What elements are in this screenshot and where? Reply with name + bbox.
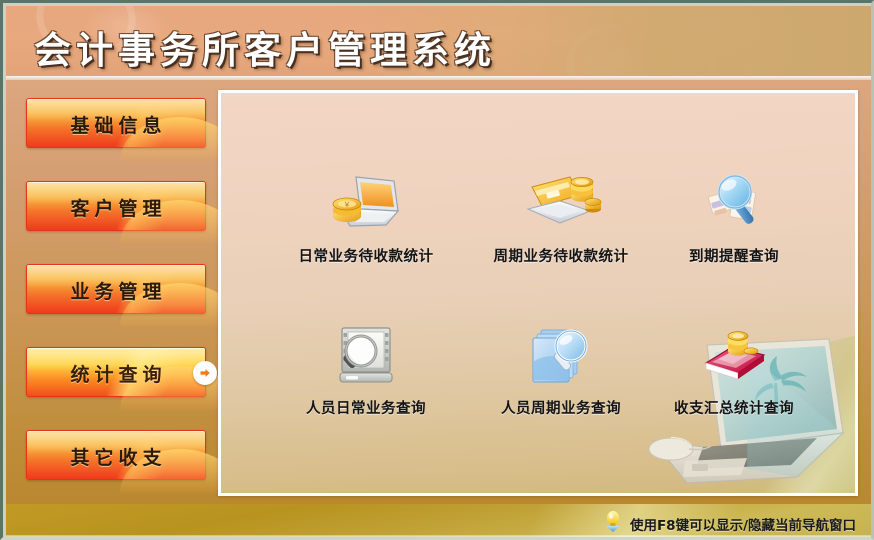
grid-item-staff-periodic-business-query[interactable]: 人员周期业务查询 [466, 321, 656, 418]
grid-item-periodic-receivable-stats[interactable]: 周期业务待收款统计 [466, 169, 656, 266]
sidebar-item-label: 业务管理 [27, 277, 205, 304]
grid-item-label: 收支汇总统计查询 [639, 397, 829, 418]
sidebar-navigation: 基础信息 客户管理 业务管理 统计查询 [6, 80, 218, 504]
pages-magnifier-icon [466, 321, 656, 389]
book-coins-icon [639, 321, 829, 389]
status-bar: 使用F8键可以显示/隐藏当前导航窗口 [6, 504, 872, 538]
grid-item-label: 人员周期业务查询 [466, 397, 656, 418]
grid-item-label: 日常业务待收款统计 [271, 245, 461, 266]
button-sheen [27, 182, 205, 204]
grid-item-label: 人员日常业务查询 [271, 397, 461, 418]
status-bar-edge [6, 535, 872, 538]
magnifier-cards-icon [639, 169, 829, 237]
sidebar-item-basic-info[interactable]: 基础信息 [26, 98, 206, 148]
main-content-panel: ￥ 日常业务待收款统计 [218, 90, 858, 496]
svg-text:￥: ￥ [344, 201, 351, 209]
window-inner: 会计事务所客户管理系统 基础信息 客户管理 业务管理 [6, 6, 872, 538]
card-coins-icon [466, 169, 656, 237]
header-swirl-decoration [552, 8, 665, 80]
header-swirl-decoration [746, 6, 872, 80]
sidebar-item-other-income-expense[interactable]: 其它收支 [26, 430, 206, 480]
status-hint-text: 使用F8键可以显示/隐藏当前导航窗口 [630, 514, 856, 534]
sidebar-item-label: 其它收支 [27, 443, 205, 470]
grid-item-income-expense-summary-query[interactable]: 收支汇总统计查询 [639, 321, 829, 418]
sidebar-item-business-management[interactable]: 业务管理 [26, 264, 206, 314]
grid-item-label: 周期业务待收款统计 [466, 245, 656, 266]
app-header: 会计事务所客户管理系统 [6, 6, 872, 80]
sidebar-item-label: 统计查询 [27, 360, 205, 387]
button-sheen [27, 99, 205, 121]
status-hint: 使用F8键可以显示/隐藏当前导航窗口 [603, 511, 856, 537]
page-title: 会计事务所客户管理系统 [34, 20, 496, 74]
sidebar-item-statistics-query[interactable]: 统计查询 [26, 347, 206, 397]
button-sheen [27, 431, 205, 453]
application-window: 会计事务所客户管理系统 基础信息 客户管理 业务管理 [0, 0, 874, 540]
laptop-coins-icon: ￥ [271, 169, 461, 237]
button-sheen [27, 348, 205, 370]
header-swirl-decoration [696, 6, 831, 80]
sidebar-item-label: 基础信息 [27, 111, 205, 138]
arrow-right-icon [193, 361, 217, 385]
document-magnifier-icon [271, 321, 461, 389]
sidebar-item-label: 客户管理 [27, 194, 205, 221]
header-divider [6, 76, 872, 80]
header-swirl-decoration [630, 6, 801, 80]
grid-item-staff-daily-business-query[interactable]: 人员日常业务查询 [271, 321, 461, 418]
grid-item-due-reminder-query[interactable]: 到期提醒查询 [639, 169, 829, 266]
button-sheen [27, 265, 205, 287]
body-region: 基础信息 客户管理 业务管理 统计查询 [6, 80, 872, 504]
icon-grid: ￥ 日常业务待收款统计 [221, 93, 855, 493]
sidebar-item-customer-management[interactable]: 客户管理 [26, 181, 206, 231]
lightbulb-icon [603, 511, 623, 537]
grid-item-daily-receivable-stats[interactable]: ￥ 日常业务待收款统计 [271, 169, 461, 266]
grid-item-label: 到期提醒查询 [639, 245, 829, 266]
